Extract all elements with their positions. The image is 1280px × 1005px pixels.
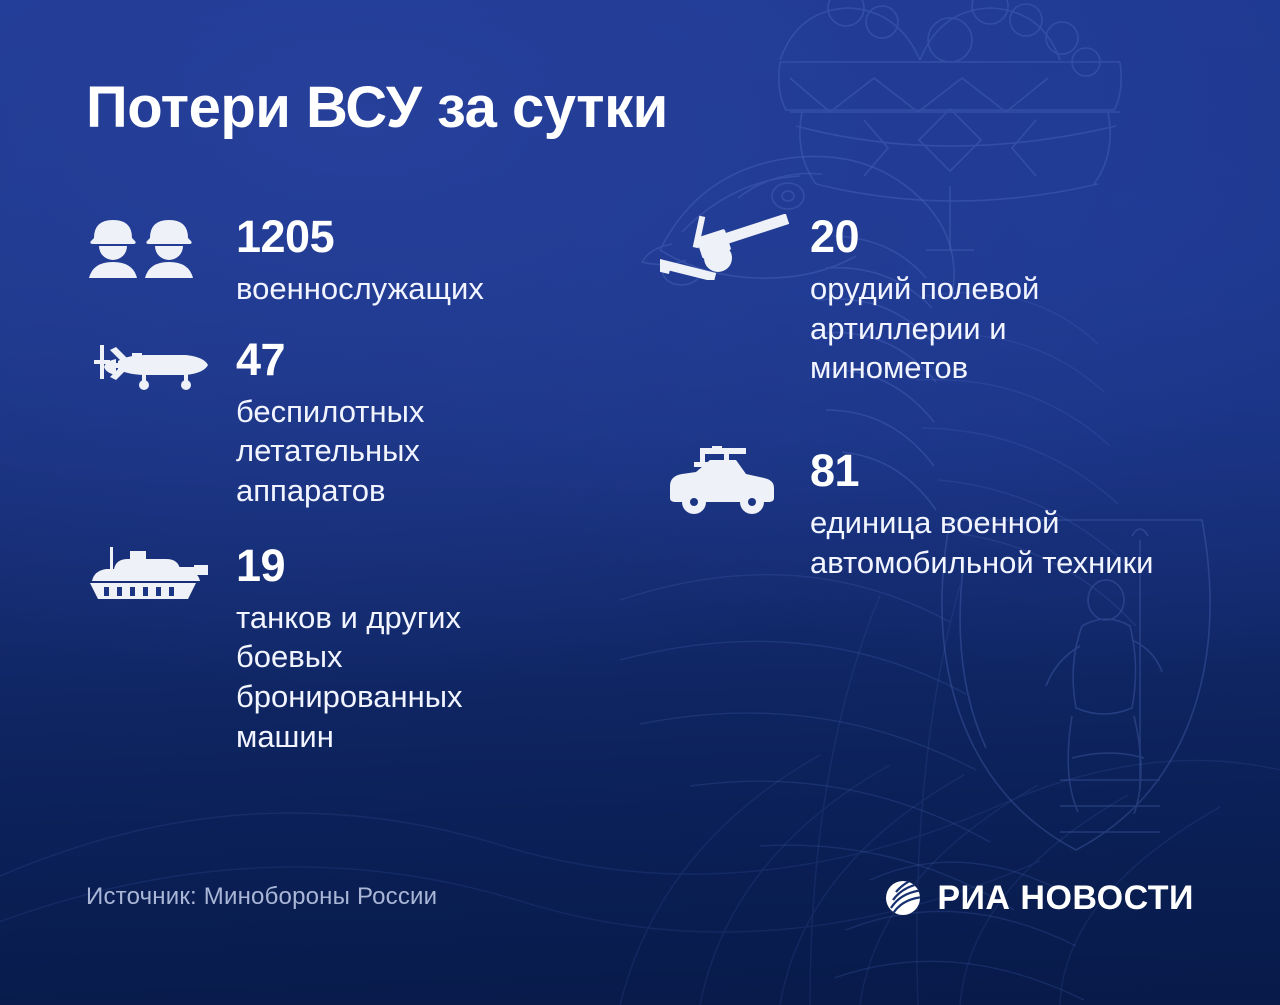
stats-column-right: 20 орудий полевой артиллерии и минометов: [660, 212, 1180, 608]
stat-value: 20: [810, 214, 1180, 259]
ria-novosti-logo: РИА НОВОСТИ: [883, 878, 1194, 918]
stat-label: орудий полевой артиллерии и минометов: [810, 269, 1160, 388]
stat-label: военнослужащих: [236, 269, 566, 309]
stat-item-uav: 47 беспилотных летательных аппаратов: [86, 335, 586, 511]
stat-body: 81 единица военной автомобильной техники: [810, 446, 1180, 582]
stat-body: 47 беспилотных летательных аппаратов: [236, 335, 586, 511]
source-attribution: Источник: Минобороны России: [86, 883, 437, 911]
stat-label: единица военной автомобильной техники: [810, 503, 1160, 582]
stat-value: 81: [810, 448, 1180, 493]
stat-value: 19: [236, 543, 586, 588]
stat-item-tank: 19 танков и других боевых бронированных …: [86, 541, 586, 757]
stat-item-artillery: 20 орудий полевой артиллерии и минометов: [660, 212, 1180, 388]
stat-item-personnel: 1205 военнослужащих: [86, 212, 586, 309]
stats-column-left: 1205 военнослужащих: [86, 212, 586, 782]
military-truck-icon: [660, 446, 790, 516]
soldiers-icon: [86, 212, 216, 282]
stat-body: 1205 военнослужащих: [236, 212, 586, 309]
stat-body: 20 орудий полевой артиллерии и минометов: [810, 212, 1180, 388]
drone-icon: [86, 335, 216, 405]
stat-body: 19 танков и других боевых бронированных …: [236, 541, 586, 757]
stat-value: 47: [236, 337, 586, 382]
stat-value: 1205: [236, 214, 586, 259]
stat-label: беспилотных летательных аппаратов: [236, 392, 566, 511]
howitzer-icon: [660, 212, 790, 282]
infographic-poster: Потери ВСУ за сутки: [0, 0, 1280, 1005]
brand-name: РИА НОВОСТИ: [937, 881, 1194, 915]
tank-icon: [86, 541, 216, 611]
stat-item-vehicle: 81 единица военной автомобильной техники: [660, 446, 1180, 582]
page-title: Потери ВСУ за сутки: [86, 78, 668, 139]
ria-spiral-icon: [883, 878, 923, 918]
stat-label: танков и других боевых бронированных маш…: [236, 598, 566, 757]
